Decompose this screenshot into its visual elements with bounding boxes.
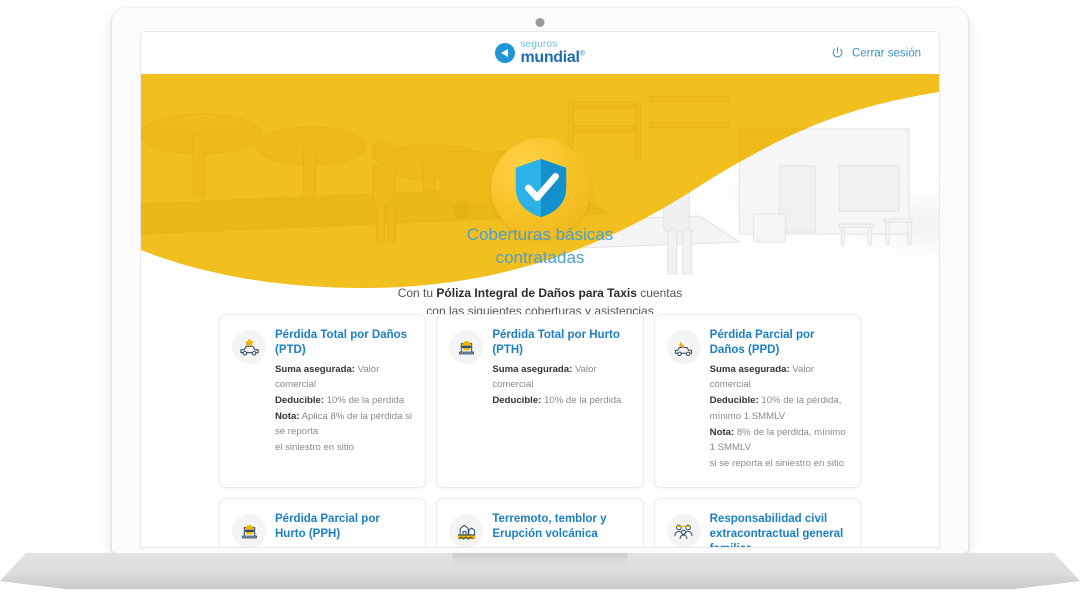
coverage-card-line-value: el siniestro en sitio xyxy=(275,442,354,453)
coverage-card[interactable]: Terremoto, temblor y Erupción volcánicaS… xyxy=(436,498,643,548)
coverage-card-body: Pérdida Parcial por Daños (PPD)Suma aseg… xyxy=(710,328,848,472)
browser-screen: seguros mundial® Cerrar sesión xyxy=(140,31,940,548)
hero-text-block: Coberturas básicas contratadas Con tu Pó… xyxy=(141,224,939,314)
coverage-card-line: mínimo 1 SMMLV xyxy=(710,410,848,425)
hero-banner: Coberturas básicas contratadas Con tu Pó… xyxy=(141,74,939,314)
logo-word: mundial xyxy=(520,49,579,66)
coverage-card-line-value: mínimo 1 SMMLV xyxy=(710,411,786,422)
logo-text-bottom: mundial® xyxy=(520,50,584,66)
car-crash-icon xyxy=(232,330,266,364)
coverage-card-title: Pérdida Parcial por Daños (PPD) xyxy=(710,328,848,357)
coverage-card-line: Nota: Aplica 8% de la pérdida si se repo… xyxy=(275,410,413,440)
logout-button[interactable]: Cerrar sesión xyxy=(830,46,921,61)
coverage-card[interactable]: Pérdida Total por Daños (PTD)Suma asegur… xyxy=(219,314,426,488)
coverage-card-body: Terremoto, temblor y Erupción volcánicaS… xyxy=(492,512,630,548)
coverage-card-body: Responsabilidad civil extracontractual g… xyxy=(710,512,848,548)
coverage-card-title: Pérdida Parcial por Hurto (PPH) xyxy=(275,512,413,541)
hero-subtitle-line2: con las siguientes coberturas y asistenc… xyxy=(141,302,939,314)
coverage-card-line: Deducible: 10% de la pérdida xyxy=(275,394,413,409)
seguros-mundial-logo[interactable]: seguros mundial® xyxy=(495,40,584,66)
hero-title: Coberturas básicas contratadas xyxy=(141,224,939,270)
coverage-card-line-value: 10% de la pérdida, xyxy=(759,395,842,406)
coverage-card-line-label: Deducible: xyxy=(275,395,324,406)
coverage-card-line-label: Suma asegurada: xyxy=(275,364,355,375)
coverage-card-title: Pérdida Total por Hurto (PTH) xyxy=(492,328,630,357)
coverage-card[interactable]: Pérdida Total por Hurto (PTH)Suma asegur… xyxy=(436,314,643,488)
thief-laptop-icon xyxy=(449,330,483,364)
hero-subtitle-line1: Con tu Póliza Integral de Daños para Tax… xyxy=(141,284,939,303)
coverage-card-line-value: 10% de la pérdida xyxy=(324,395,404,406)
hero-title-line2: contratadas xyxy=(141,247,939,270)
hero-subtitle-pre: Con tu xyxy=(398,286,437,300)
app-header: seguros mundial® Cerrar sesión xyxy=(141,32,939,74)
car-fire-icon xyxy=(667,330,701,364)
coverage-card-title: Pérdida Total por Daños (PTD) xyxy=(275,328,413,357)
coverage-card-line-label: Nota: xyxy=(275,411,300,422)
logout-label: Cerrar sesión xyxy=(852,47,921,59)
coverage-card-body: Pérdida Total por Hurto (PTH)Suma asegur… xyxy=(492,328,630,472)
coverage-cards-grid: Pérdida Total por Daños (PTD)Suma asegur… xyxy=(219,314,861,548)
coverage-card-line-label: Deducible: xyxy=(492,395,541,406)
coverage-cards-section: Pérdida Total por Daños (PTD)Suma asegur… xyxy=(141,314,939,548)
coverage-card-line: el siniestro en sitio xyxy=(275,441,413,456)
coverage-card-title: Responsabilidad civil extracontractual g… xyxy=(710,512,848,548)
screenshot-stage: seguros mundial® Cerrar sesión xyxy=(0,0,1080,606)
hero-subtitle-policy: Póliza Integral de Daños para Taxis xyxy=(436,286,637,300)
coverage-card-line: Nota: 8% de la pérdida, mínimo 1 SMMLV xyxy=(710,426,848,456)
coverage-card[interactable]: Responsabilidad civil extracontractual g… xyxy=(654,498,861,548)
coverage-card[interactable]: Pérdida Parcial por Daños (PPD)Suma aseg… xyxy=(654,314,861,488)
hero-subtitle: Con tu Póliza Integral de Daños para Tax… xyxy=(141,284,939,314)
coverage-card-line-label: Nota: xyxy=(710,427,735,438)
shield-check-icon xyxy=(512,157,570,219)
shield-badge xyxy=(491,138,591,238)
coverage-card-body: Pérdida Total por Daños (PTD)Suma asegur… xyxy=(275,328,413,472)
family-group-icon xyxy=(667,514,701,548)
coverage-card-line: Suma asegurada: Valor comercial xyxy=(275,363,413,393)
coverage-card-line: Suma asegurada: Valor comercial xyxy=(492,363,630,393)
coverage-card-line-value: si se reporta el siniestro en sitio xyxy=(710,458,844,469)
hero-subtitle-post: cuentas xyxy=(637,286,682,300)
coverage-card-line: si se reporta el siniestro en sitio xyxy=(710,457,848,472)
thief-laptop-icon xyxy=(232,514,266,548)
coverage-card-line: Deducible: 10% de la pérdida xyxy=(492,394,630,409)
logo-circle-arrow-icon xyxy=(495,43,515,63)
coverage-card-line-label: Suma asegurada: xyxy=(492,364,572,375)
coverage-card-line-label: Deducible: xyxy=(710,395,759,406)
coverage-card-body: Pérdida Parcial por Hurto (PPH)Suma aseg… xyxy=(275,512,413,548)
coverage-card[interactable]: Pérdida Parcial por Hurto (PPH)Suma aseg… xyxy=(219,498,426,548)
hero-title-line1: Coberturas básicas xyxy=(141,224,939,247)
camera-dot xyxy=(536,18,545,27)
logo-trademark: ® xyxy=(580,51,585,58)
power-icon xyxy=(830,46,845,61)
laptop-base-notch xyxy=(453,553,628,564)
earthquake-house-icon xyxy=(449,514,483,548)
coverage-card-line: Suma asegurada: Valor comercial xyxy=(710,363,848,393)
coverage-card-title: Terremoto, temblor y Erupción volcánica xyxy=(492,512,630,541)
coverage-card-line-value: 10% de la pérdida xyxy=(541,395,621,406)
coverage-card-line: Deducible: 10% de la pérdida, xyxy=(710,394,848,409)
coverage-card-line-label: Suma asegurada: xyxy=(710,364,790,375)
